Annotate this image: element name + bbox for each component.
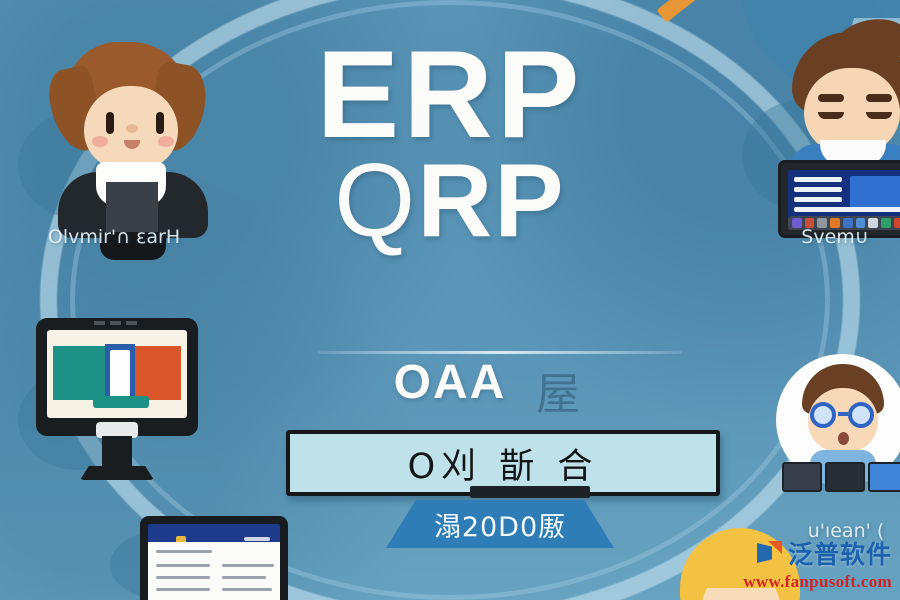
eye-right — [866, 112, 892, 119]
cheek-right — [158, 136, 174, 147]
caption-top-left: Olvmir'∩ εarH — [14, 226, 214, 248]
text-line — [156, 564, 210, 567]
cheek-left — [92, 136, 108, 147]
watermark-brand: 泛普软件 — [788, 535, 892, 571]
glasses-right — [848, 402, 874, 428]
monitor-screen — [47, 330, 187, 418]
headline-divider — [318, 351, 682, 354]
device-tablet — [868, 462, 900, 492]
watermark: 泛普软件 www.fanpusoft.com — [743, 535, 892, 592]
tablet-header-bar — [148, 524, 280, 542]
watermark-url: www.fanpusoft.com — [743, 572, 892, 592]
figure-tablet — [140, 516, 290, 600]
device-row — [782, 462, 900, 496]
tablet-body — [140, 516, 288, 600]
monitor-foot — [80, 466, 154, 480]
brow-right — [866, 94, 892, 102]
text-line — [222, 564, 274, 567]
caption-top-right: Svem∪ — [760, 226, 900, 248]
screen-panel — [850, 176, 900, 210]
tablet-page — [148, 542, 280, 600]
banner-text: 溻20D0厫 — [434, 505, 566, 544]
screen-line — [794, 197, 842, 202]
eye-left — [106, 112, 114, 134]
nose-shape — [126, 124, 138, 133]
screen-line — [794, 207, 900, 212]
mouth-shape — [838, 432, 849, 445]
monitor-body — [36, 318, 198, 436]
brow-left — [818, 94, 844, 102]
monitor-top-dots — [94, 321, 140, 325]
text-line — [156, 550, 212, 553]
figure-avatar — [776, 354, 900, 504]
glasses-left — [810, 402, 836, 428]
shape-base-bar — [93, 396, 149, 408]
laptop-screen — [788, 170, 900, 218]
bottom-banner: 溻20D0厫 — [386, 500, 614, 548]
figure-top-right — [778, 32, 900, 242]
device-monitor — [782, 462, 822, 492]
title-qrp-bold: RP — [417, 143, 565, 259]
illustration-canvas: ERP QRP OAA 屋 O刈 斮 合 溻20D0厫 Olvmir'∩ εar… — [0, 0, 900, 600]
figure-monitor — [36, 318, 206, 488]
logo-icon — [757, 540, 783, 566]
text-line — [222, 576, 266, 579]
text-line — [222, 588, 272, 591]
ghost-glyph: 屋 — [536, 358, 580, 422]
glasses-bridge — [838, 412, 848, 416]
text-line — [156, 576, 210, 579]
screen-line — [794, 187, 842, 192]
slogan-text: O刈 斮 合 — [408, 438, 599, 489]
banner-stub — [470, 486, 590, 498]
screen-line — [794, 177, 842, 182]
slider-control — [244, 537, 270, 541]
watermark-brand-row: 泛普软件 — [743, 535, 892, 571]
text-line — [156, 588, 210, 591]
device-laptop — [825, 462, 865, 492]
title-qrp-thin: Q — [334, 143, 417, 259]
eye-right — [156, 112, 164, 134]
shape-white — [110, 350, 130, 400]
eye-left — [818, 112, 844, 119]
